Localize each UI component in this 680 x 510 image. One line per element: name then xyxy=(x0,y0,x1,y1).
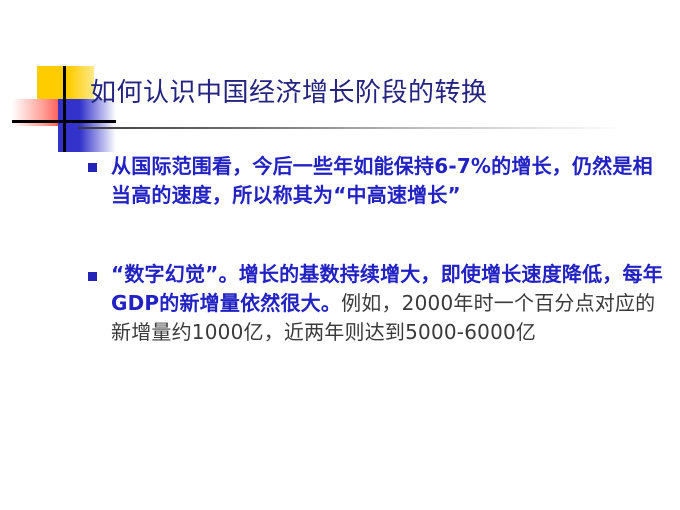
slide-title: 如何认识中国经济增长阶段的转换 xyxy=(90,76,650,110)
bullet-square-icon xyxy=(88,272,97,281)
bullet-emphasis-text: 从国际范围看，今后一些年如能保持6-7%的增长，仍然是相当高的速度，所以称其为“… xyxy=(111,154,653,207)
bullet-text: “数字幻觉”。增长的基数持续增大，即使增长速度降低，每年GDP的新增量依然很大。… xyxy=(111,260,668,347)
bullet-square-icon xyxy=(88,163,97,172)
bullet-text: 从国际范围看，今后一些年如能保持6-7%的增长，仍然是相当高的速度，所以称其为“… xyxy=(111,152,668,210)
title-divider xyxy=(78,127,623,129)
slide-canvas: 如何认识中国经济增长阶段的转换 从国际范围看，今后一些年如能保持6-7%的增长，… xyxy=(0,0,680,510)
bullet-item: “数字幻觉”。增长的基数持续增大，即使增长速度降低，每年GDP的新增量依然很大。… xyxy=(88,260,668,347)
slide-body: 从国际范围看，今后一些年如能保持6-7%的增长，仍然是相当高的速度，所以称其为“… xyxy=(88,152,668,347)
logo-horizontal-line-icon xyxy=(12,120,116,123)
bullet-item: 从国际范围看，今后一些年如能保持6-7%的增长，仍然是相当高的速度，所以称其为“… xyxy=(88,152,668,210)
logo-vertical-line-icon xyxy=(63,66,66,152)
